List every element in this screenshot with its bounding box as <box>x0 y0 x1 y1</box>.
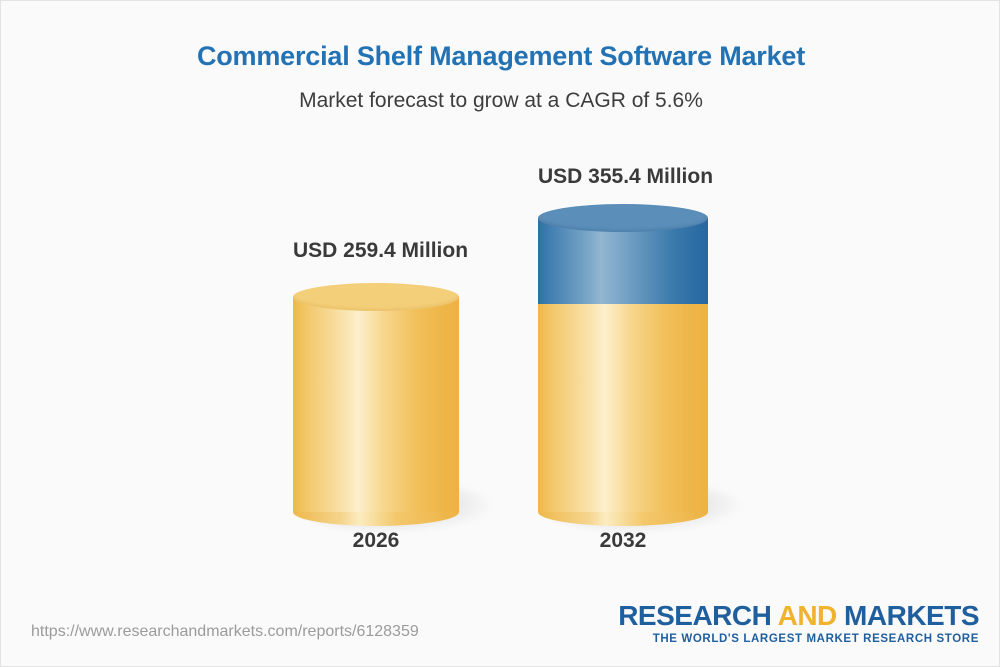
source-url[interactable]: https://www.researchandmarkets.com/repor… <box>31 623 419 641</box>
brand-wordmark: RESEARCH AND MARKETS <box>618 601 979 630</box>
bar-category-label-2032: 2032 <box>538 529 708 553</box>
bar-category-label-2026: 2026 <box>293 529 459 553</box>
bar-value-label-2026: USD 259.4 Million <box>293 239 459 263</box>
bar-group-2026: USD 259.4 Million 2026 <box>293 151 459 551</box>
bar-segment-growth-2032 <box>538 218 708 304</box>
brand-logo[interactable]: RESEARCH AND MARKETS THE WORLD'S LARGEST… <box>618 601 979 645</box>
chart-canvas: Commercial Shelf Management Software Mar… <box>0 0 1000 667</box>
bar-segment-base-2032 <box>538 302 708 512</box>
bar-top-ellipse-2032 <box>538 204 708 232</box>
bar-body-base-2032 <box>538 302 708 512</box>
brand-tagline: THE WORLD'S LARGEST MARKET RESEARCH STOR… <box>618 633 979 645</box>
brand-word-and: AND <box>778 600 837 631</box>
bar-top-ellipse-2026 <box>293 283 459 311</box>
bar-value-label-2032: USD 355.4 Million <box>538 165 708 189</box>
brand-word-research: RESEARCH <box>618 600 771 631</box>
plot-area: USD 259.4 Million 2026 USD 355.4 Million <box>1 1 1000 667</box>
bar-group-2032: USD 355.4 Million 2032 <box>538 151 708 551</box>
brand-word-markets: MARKETS <box>844 600 979 631</box>
bar-segment-base-2026 <box>293 297 459 512</box>
bar-body-2026 <box>293 297 459 512</box>
